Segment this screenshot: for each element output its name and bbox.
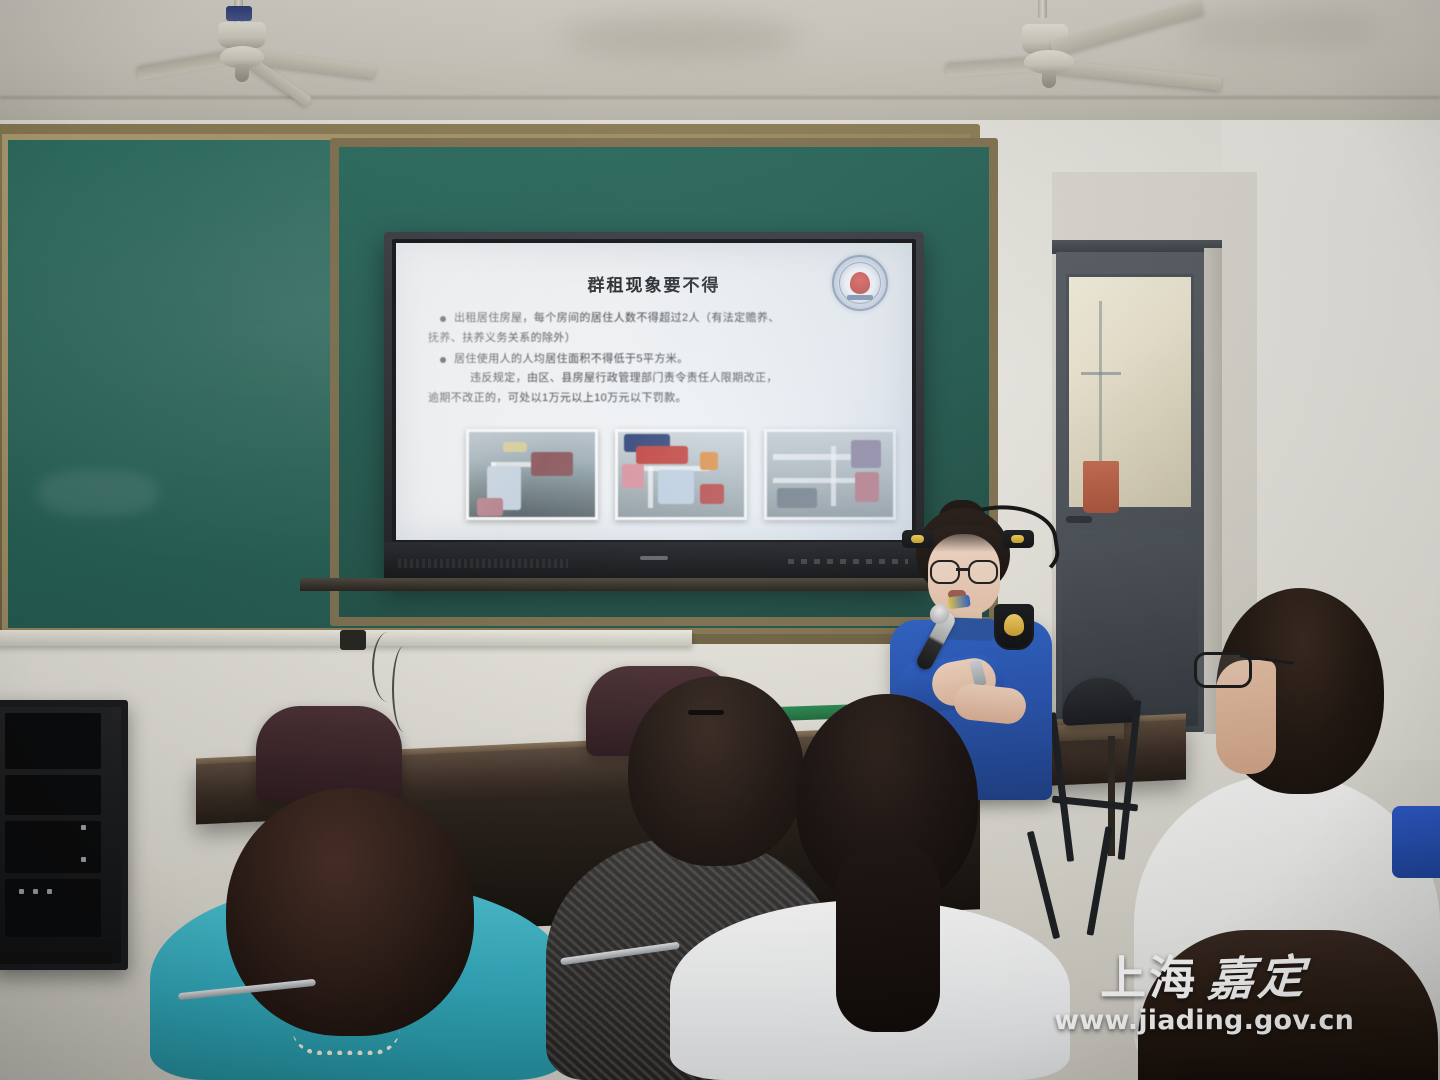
display-logo: [640, 556, 668, 560]
fan-rod: [1038, 0, 1047, 18]
fan-cap: [1042, 70, 1056, 88]
watermark: 上海 嘉定 www.jiading.gov.cn: [1054, 955, 1354, 1036]
bullet-continuation: 抚养、扶养义务关系的除外）: [418, 330, 890, 348]
rack-base: [0, 952, 112, 964]
watermark-url: www.jiading.gov.cn: [1054, 1005, 1354, 1036]
wall-display[interactable]: 群租现象要不得 出租居住房屋，每个房间的居住人数不得超过2人（有法定赡养、 抚养…: [384, 232, 924, 584]
door-glass-panel: [1066, 274, 1194, 510]
slide-photo: [764, 429, 896, 520]
bullet-item: 居住使用人的人均居住面积不得低于5平方米。: [418, 351, 890, 369]
display-speaker-grille: [398, 559, 568, 568]
rack-indicator-led: [81, 825, 86, 830]
bullet-item: 出租居住房屋，每个房间的居住人数不得超过2人（有法定赡养、: [418, 310, 890, 328]
corridor-planter: [1083, 461, 1119, 513]
fan-blade: [1051, 60, 1221, 91]
bullet-dot-icon: [440, 357, 446, 363]
classroom-lecture-photo: 群租现象要不得 出租居住房屋，每个房间的居住人数不得超过2人（有法定赡养、 抚养…: [0, 0, 1440, 1080]
attendee-necklace: [292, 1028, 400, 1055]
fan-blade: [1050, 0, 1204, 57]
slide-photo: [466, 429, 598, 520]
attendee-teal-jacket-head: [226, 788, 474, 1036]
presenter-fringe: [922, 526, 1006, 552]
uniform-epaulet: [902, 530, 934, 548]
uniform-shoulder-badge: [994, 604, 1034, 650]
slide-photo: [615, 429, 747, 520]
rack-indicator-led: [19, 889, 24, 894]
penalty-note-line-1: 违反规定，由区、县房屋行政管理部门责令责任人限期改正，: [418, 370, 890, 388]
rack-indicator-led: [81, 857, 86, 862]
attendee-ponytail: [836, 840, 940, 1032]
attendee-bag: [1392, 806, 1440, 878]
hanging-cable: [392, 646, 416, 732]
rack-indicator-led: [33, 889, 38, 894]
slide-title: 群租现象要不得: [418, 271, 890, 296]
rack-indicator-led: [47, 889, 52, 894]
classroom-door[interactable]: [1056, 252, 1204, 732]
fan-cap: [235, 64, 249, 82]
display-screen: 群租现象要不得 出租居住房屋，每个房间的居住人数不得超过2人（有法定赡养、 抚养…: [396, 243, 912, 540]
presentation-slide: 群租现象要不得 出租居住房屋，每个房间的居住人数不得超过2人（有法定赡养、 抚养…: [396, 243, 912, 540]
penalty-note-line-2: 逾期不改正的，可处以1万元以上10万元以下罚款。: [418, 390, 890, 408]
ceiling-fan-right: [960, 0, 1280, 106]
bullet-text: 出租居住房屋，每个房间的居住人数不得超过2人（有法定赡养、: [454, 310, 890, 328]
display-mount-shelf: [300, 578, 940, 591]
uniform-epaulet: [1002, 530, 1034, 548]
bullet-text: 居住使用人的人均居住面积不得低于5平方米。: [454, 351, 890, 369]
door-handle[interactable]: [1066, 516, 1092, 523]
ceiling-fan-left: [150, 0, 470, 104]
slide-bullets: 出租居住房屋，每个房间的居住人数不得超过2人（有法定赡养、 抚养、扶养义务关系的…: [418, 310, 890, 408]
presenter-glasses: [930, 560, 998, 580]
wall-socket: [340, 630, 366, 650]
slide-photo-strip: [466, 429, 896, 520]
fan-motor: [218, 22, 266, 48]
chair-back[interactable]: [256, 706, 402, 802]
attendee-hairpin: [688, 710, 724, 715]
attendee-dark-top-head: [628, 676, 804, 866]
display-bezel: 群租现象要不得 出租居住房屋，每个房间的居住人数不得超过2人（有法定赡养、 抚养…: [392, 239, 916, 544]
bullet-dot-icon: [440, 316, 446, 322]
watermark-district: 嘉定: [1206, 953, 1310, 1002]
ceiling-stain: [560, 18, 800, 58]
fan-label: [226, 6, 252, 21]
av-equipment-rack: [0, 700, 128, 970]
watermark-city: 上海: [1100, 955, 1198, 1001]
